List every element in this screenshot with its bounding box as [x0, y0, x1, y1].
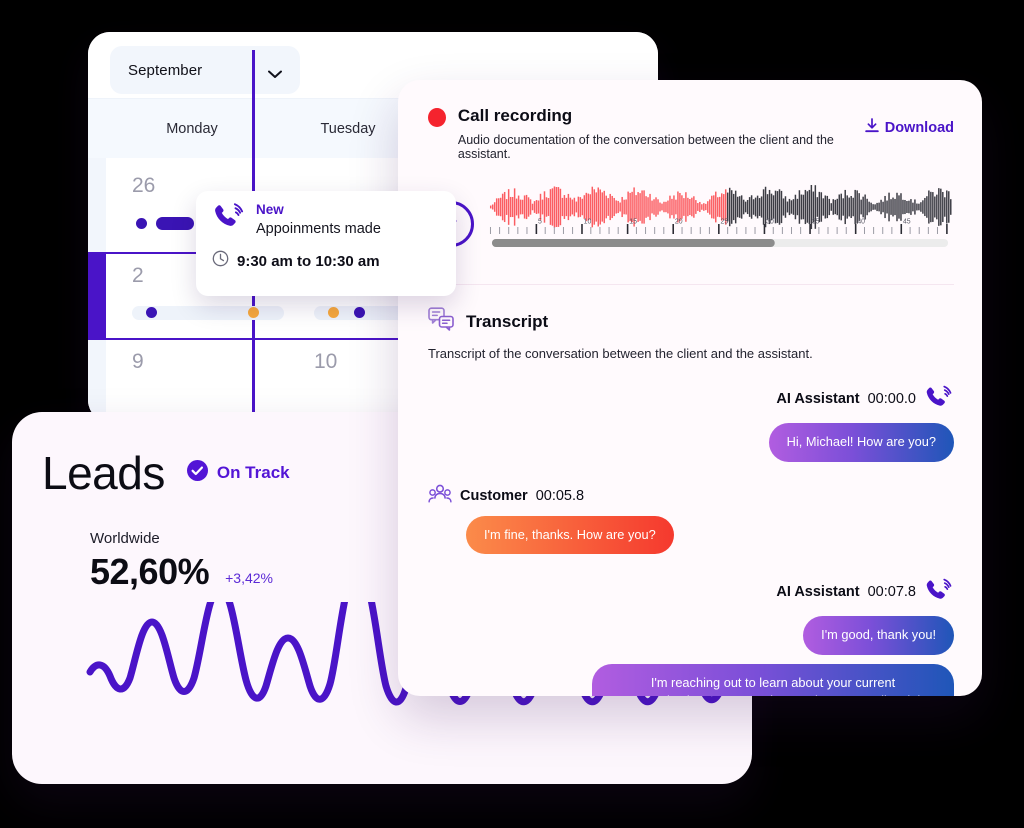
month-select-label: September: [128, 62, 202, 79]
audio-waveform[interactable]: 51015202530354045: [488, 185, 954, 257]
svg-text:20: 20: [675, 218, 683, 225]
appointment-time-range: 9:30 am to 10:30 am: [237, 253, 380, 270]
chevron-down-icon: [268, 66, 282, 75]
phone-ring-icon: [924, 576, 954, 608]
message-timestamp: 00:07.8: [868, 584, 916, 600]
calendar-event-dot[interactable]: [146, 307, 157, 318]
svg-text:10: 10: [584, 218, 592, 225]
download-button[interactable]: Download: [865, 118, 954, 138]
message-speaker: AI Assistant: [776, 584, 859, 600]
phone-ring-icon: [212, 203, 246, 238]
appointment-popup[interactable]: New Appoinments made 9:30 am to 10:30 am: [196, 191, 456, 296]
record-dot-icon: [428, 108, 446, 127]
month-select[interactable]: September: [110, 46, 300, 94]
message-bubble[interactable]: I'm good, thank you!: [803, 616, 954, 655]
clock-icon: [212, 250, 229, 272]
message-speaker: AI Assistant: [776, 391, 859, 407]
svg-text:40: 40: [857, 218, 865, 225]
svg-text:30: 30: [766, 218, 774, 225]
svg-text:5: 5: [538, 218, 542, 225]
leads-metric-delta: +3,42%: [225, 570, 273, 593]
chat-bubbles-icon: [428, 307, 454, 336]
calendar-event-dot[interactable]: [328, 307, 339, 318]
message-bubble[interactable]: I'm reaching out to learn about your cur…: [592, 664, 954, 696]
calendar-daynum: 10: [314, 350, 337, 374]
svg-text:15: 15: [629, 218, 637, 225]
call-recording-section: Call recording Audio documentation of th…: [398, 80, 982, 285]
calendar-daynum: 2: [132, 264, 144, 288]
phone-ring-icon: [924, 383, 954, 415]
call-recording-title: Call recording: [458, 106, 865, 126]
calendar-daynum: 26: [132, 174, 155, 198]
status-badge-label: On Track: [217, 463, 290, 483]
transcript-subtitle: Transcript of the conversation between t…: [428, 346, 954, 361]
appointment-badge: New: [256, 203, 381, 218]
calendar-event-dot[interactable]: [248, 307, 259, 318]
people-icon: [428, 484, 452, 508]
call-recording-subtitle: Audio documentation of the conversation …: [458, 133, 865, 161]
call-transcript-card: Call recording Audio documentation of th…: [398, 80, 982, 696]
svg-text:45: 45: [903, 218, 911, 225]
message-timestamp: 00:00.0: [868, 391, 916, 407]
day-header-monday: Monday: [114, 121, 270, 137]
download-icon: [865, 118, 879, 138]
transcript-section: Transcript Transcript of the conversatio…: [398, 285, 982, 696]
check-circle-icon: [187, 460, 208, 486]
message-speaker: Customer: [460, 488, 528, 504]
status-badge: On Track: [187, 460, 290, 486]
download-label: Download: [885, 120, 954, 136]
appointment-title: Appoinments made: [256, 221, 381, 237]
page-title: Leads: [42, 446, 165, 500]
message-bubble[interactable]: Hi, Michael! How are you?: [769, 423, 954, 462]
calendar-event-dot[interactable]: [354, 307, 365, 318]
calendar-daynum: 9: [132, 350, 144, 374]
audio-player: 51015202530354045: [428, 185, 954, 262]
calendar-week-strip: [88, 158, 106, 422]
transcript-message-group: Customer 00:05.8 I'm fine, thanks. How a…: [428, 484, 954, 555]
transcript-message-group: AI Assistant 00:00.0 Hi, Michael! How ar…: [428, 383, 954, 462]
leads-metric-value: 52,60%: [90, 551, 209, 593]
svg-text:25: 25: [721, 218, 729, 225]
calendar-event-dot[interactable]: [136, 218, 147, 229]
screenshot-stage: September Monday Tuesday 26 2: [0, 0, 1024, 828]
message-bubble[interactable]: I'm fine, thanks. How are you?: [466, 516, 674, 555]
transcript-message-group: AI Assistant 00:07.8 I'm good, thank you…: [428, 576, 954, 696]
calendar-event-capsule[interactable]: [156, 217, 194, 230]
message-timestamp: 00:05.8: [536, 488, 584, 504]
transcript-title: Transcript: [466, 312, 548, 332]
svg-text:35: 35: [812, 218, 820, 225]
